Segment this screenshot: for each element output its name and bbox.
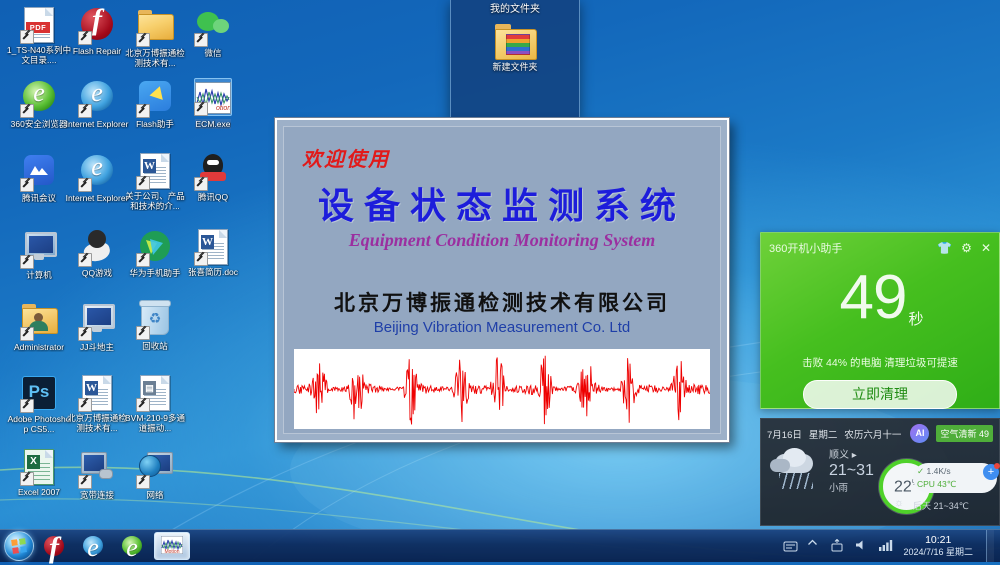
- desktop-icon-1[interactable]: PDF1_TS-N40系列中文目录....: [6, 6, 72, 65]
- desktop-icon-6[interactable]: Internet Explorer: [64, 78, 130, 129]
- desktop-icon-label: 回收站: [122, 341, 188, 351]
- desktop-icon-label: Flash助手: [122, 119, 188, 129]
- desktop-icon-label: Administrator: [6, 342, 72, 352]
- desktop-icon-label: Internet Explorer: [64, 193, 130, 203]
- desktop-icon-15[interactable]: 华为手机助手: [122, 228, 188, 278]
- tray-expand-icon[interactable]: [807, 539, 822, 553]
- shortcut-arrow-icon: [136, 104, 150, 118]
- desktop-icon-label: 网络: [122, 490, 188, 500]
- desktop-icon-label: JJ斗地主: [64, 342, 130, 352]
- ecm-app-icon: Motion: [161, 536, 183, 554]
- shortcut-arrow-icon: [78, 104, 92, 118]
- desktop-icon-label: Excel 2007: [6, 487, 72, 497]
- desktop-icon-3[interactable]: 北京万博振通检测技术有...: [122, 6, 188, 68]
- desktop-icon-label: 1_TS-N40系列中文目录....: [6, 45, 72, 65]
- weather-widget[interactable]: 7月16日 星期二 农历六月十一 AI 空气清新 49 顺义 ▸ 21~31 小…: [760, 418, 1000, 526]
- explorer-window-content: 新建文件夹: [451, 20, 579, 73]
- weather-lunar: 农历六月十一: [844, 427, 901, 441]
- shortcut-arrow-icon: [78, 475, 92, 489]
- desktop-icon-label: 腾讯QQ: [180, 192, 246, 202]
- taskbar-button-internet-explorer[interactable]: [76, 532, 112, 560]
- desktop-icon-label: 关于公司、产品和技术的介...: [122, 191, 188, 211]
- svg-text:otion: otion: [216, 105, 230, 112]
- desktop-icon-14[interactable]: QQ游戏: [64, 228, 130, 278]
- shortcut-arrow-icon: [136, 176, 150, 190]
- desktop-icon-12[interactable]: 腾讯QQ: [180, 152, 246, 202]
- desktop-icon-label: 北京万博振通检测技术有...: [64, 413, 130, 433]
- signal-icon[interactable]: [879, 539, 894, 553]
- shortcut-arrow-icon: [194, 252, 208, 266]
- desktop-icon-7[interactable]: Flash助手: [122, 78, 188, 129]
- new-folder-icon[interactable]: [495, 24, 535, 58]
- desktop-icon-22[interactable]: ▤BVM-210-9多通道振动...: [122, 374, 188, 433]
- desktop-icon-24[interactable]: 宽带连接: [64, 448, 130, 500]
- forecast-sun-icon: ☼: [894, 497, 904, 509]
- svg-text:Motion: Motion: [164, 549, 179, 554]
- clean-now-button[interactable]: 立即清理: [803, 380, 957, 409]
- desktop-icon-label: 宽带连接: [64, 490, 130, 500]
- app-title-english: Equipment Condition Monitoring System: [284, 230, 720, 251]
- shortcut-arrow-icon: [194, 33, 208, 47]
- desktop-icon-label: 张喜简历.doc: [180, 267, 246, 277]
- shortcut-arrow-icon: [78, 178, 92, 192]
- company-name-english: Beijing Vibration Measurement Co. Ltd: [284, 319, 720, 336]
- shortcut-arrow-icon: [194, 102, 208, 116]
- boot-assistant-title: 360开机小助手: [769, 240, 937, 256]
- desktop-icon-label: ECM.exe: [195, 119, 232, 129]
- system-tray[interactable]: 10:21 2024/7/16 星期二: [783, 530, 1000, 562]
- shortcut-arrow-icon: [78, 398, 92, 412]
- desktop-icon-label: BVM-210-9多通道振动...: [122, 413, 188, 433]
- desktop-icon-layer: PDF1_TS-N40系列中文目录....Flash Repair北京万博振通检…: [0, 0, 250, 525]
- boot-assistant-widget[interactable]: 360开机小助手 👕 ⚙ ✕ 49秒 击败 44% 的电脑 清理垃圾可提速 立即…: [760, 232, 1000, 409]
- shortcut-arrow-icon: [78, 253, 92, 267]
- desktop-icon-4[interactable]: 微信: [180, 6, 246, 58]
- boot-time-unit: 秒: [908, 311, 922, 328]
- desktop-icon-16[interactable]: W张喜简历.doc: [180, 228, 246, 277]
- explorer-window[interactable]: 我的文件夹 新建文件夹: [450, 0, 580, 119]
- shortcut-arrow-icon: [20, 178, 34, 192]
- desktop-icon-23[interactable]: XExcel 2007: [6, 448, 72, 497]
- desktop-icon-8[interactable]: otionECM.exe: [180, 78, 246, 134]
- ecm-splash-inner: 欢迎使用 设备状态监测系统 Equipment Condition Monito…: [283, 126, 721, 434]
- boot-assistant-header: 360开机小助手 👕 ⚙ ✕: [761, 233, 999, 259]
- shortcut-arrow-icon: [194, 177, 208, 191]
- desktop-icon-25[interactable]: 网络: [122, 448, 188, 500]
- app-title-chinese: 设备状态监测系统: [284, 177, 720, 229]
- shortcut-arrow-icon: [20, 327, 34, 341]
- desktop-icon-label: 360安全浏览器: [6, 119, 72, 129]
- ecm-splash-window[interactable]: 欢迎使用 设备状态监测系统 Equipment Condition Monito…: [275, 118, 729, 442]
- shortcut-arrow-icon: [78, 327, 92, 341]
- system-status-pill[interactable]: ✓ 1.4K/s CPU 43℃ +: [913, 463, 997, 493]
- close-icon[interactable]: ✕: [981, 241, 991, 255]
- desktop-icon-label: Adobe Photoshop CS5...: [6, 414, 72, 434]
- weather-forecast: 后天 21~34℃: [913, 499, 969, 512]
- shortcut-arrow-icon: [136, 253, 150, 267]
- clock[interactable]: 10:21 2024/7/16 星期二: [903, 534, 977, 558]
- taskbar[interactable]: Motion 10:21 2024/7/16 星期二: [0, 529, 1000, 562]
- ai-button[interactable]: AI: [910, 424, 929, 443]
- desktop-icon-5[interactable]: 360安全浏览器: [6, 78, 72, 129]
- boot-assistant-subtitle: 击败 44% 的电脑 清理垃圾可提速: [761, 355, 999, 370]
- volume-icon[interactable]: [855, 539, 870, 553]
- air-quality-badge: 空气清新 49: [936, 425, 993, 442]
- gear-icon[interactable]: ⚙: [961, 241, 972, 255]
- desktop-icon-11[interactable]: W关于公司、产品和技术的介...: [122, 152, 188, 211]
- add-widget-button[interactable]: +: [983, 464, 999, 480]
- weather-weekday: 星期二: [809, 427, 838, 441]
- shortcut-arrow-icon: [136, 398, 150, 412]
- net-speed: 1.4K/s: [927, 466, 951, 476]
- explorer-item-label: 新建文件夹: [451, 60, 579, 73]
- desktop-icon-19[interactable]: 回收站: [122, 300, 188, 351]
- taskbar-button-360-browser[interactable]: [115, 532, 151, 560]
- shortcut-arrow-icon: [78, 31, 92, 45]
- desktop-icon-13[interactable]: 计算机: [6, 228, 72, 280]
- boot-time-value: 49秒: [761, 267, 999, 345]
- desktop-icon-label: 计算机: [6, 270, 72, 280]
- weather-date: 7月16日: [767, 427, 802, 441]
- shortcut-arrow-icon: [20, 255, 34, 269]
- rain-cloud-icon: [767, 446, 825, 494]
- vibration-waveform: [294, 349, 710, 429]
- desktop-icon-2[interactable]: Flash Repair: [64, 6, 130, 56]
- action-center-icon[interactable]: [783, 539, 798, 553]
- explorer-window-title: 我的文件夹: [451, 0, 579, 20]
- desktop-icon-20[interactable]: PsAdobe Photoshop CS5...: [6, 374, 72, 434]
- cpu-temp: CPU 43℃: [917, 479, 956, 489]
- shortcut-arrow-icon: [20, 104, 34, 118]
- desktop-icon-label: 微信: [180, 48, 246, 58]
- shortcut-arrow-icon: [20, 30, 34, 44]
- safely-remove-icon[interactable]: [831, 539, 846, 553]
- desktop-icon-21[interactable]: W北京万博振通检测技术有...: [64, 374, 130, 433]
- shortcut-arrow-icon: [136, 326, 150, 340]
- show-desktop-button[interactable]: [986, 530, 994, 562]
- desktop-icon-label: Flash Repair: [64, 46, 130, 56]
- taskbar-button-ecm-window[interactable]: Motion: [154, 532, 190, 560]
- desktop-icon-17[interactable]: Administrator: [6, 300, 72, 352]
- company-name-chinese: 北京万博振通检测技术有限公司: [284, 287, 720, 317]
- desktop-icon-label: Internet Explorer: [64, 119, 130, 129]
- shortcut-arrow-icon: [20, 472, 34, 486]
- vibration-waveform-panel: [294, 349, 710, 429]
- shortcut-arrow-icon: [136, 475, 150, 489]
- desktop-icon-label: 腾讯会议: [6, 193, 72, 203]
- welcome-text: 欢迎使用: [302, 143, 390, 172]
- weather-date-row: 7月16日 星期二 农历六月十一 AI 空气清新 49: [761, 419, 999, 443]
- start-button[interactable]: [4, 531, 34, 561]
- desktop-icon-label: 华为手机助手: [122, 268, 188, 278]
- desktop-icon-18[interactable]: JJ斗地主: [64, 300, 130, 352]
- shortcut-arrow-icon: [20, 399, 34, 413]
- clock-date: 2024/7/16 星期二: [903, 546, 973, 558]
- clock-time: 10:21: [903, 534, 973, 546]
- shortcut-arrow-icon: [136, 33, 150, 47]
- desktop-icon-label: QQ游戏: [64, 268, 130, 278]
- desktop-icon-9[interactable]: 腾讯会议: [6, 152, 72, 203]
- taskbar-button-flash-repair[interactable]: [37, 532, 73, 560]
- check-icon: ✓: [917, 466, 924, 476]
- shirt-icon[interactable]: 👕: [937, 241, 952, 255]
- desktop-icon-10[interactable]: Internet Explorer: [64, 152, 130, 203]
- desktop-icon-label: 北京万博振通检测技术有...: [122, 48, 188, 68]
